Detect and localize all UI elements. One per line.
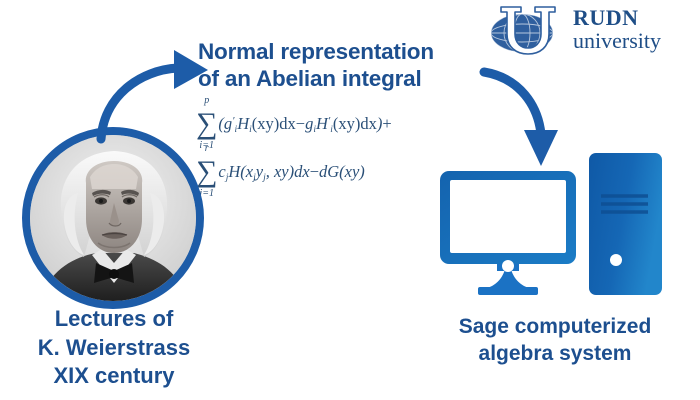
arg-open: (x bbox=[240, 162, 253, 181]
sigma-glyph-1: ∑ bbox=[196, 107, 217, 140]
arg-rest: , xy)dx bbox=[266, 162, 310, 181]
formula-line-1: p ∑ i=1 (g′iHi(xy)dx−giH′i(xy)dx)+ bbox=[196, 100, 446, 148]
weierstrass-portrait-circle bbox=[22, 127, 204, 309]
summation-symbol-2: r ∑ j=1 bbox=[196, 157, 217, 187]
rudn-logo: RUDN university bbox=[483, 3, 695, 57]
abelian-integral-formula: p ∑ i=1 (g′iHi(xy)dx−giH′i(xy)dx)+ r ∑ j… bbox=[196, 100, 446, 196]
slide-title-line-2: of an Abelian integral bbox=[198, 65, 498, 92]
c-symbol: c bbox=[218, 162, 225, 181]
caption-sage: Sage computerized algebra system bbox=[420, 313, 690, 368]
arg-1: (xy)dx bbox=[252, 114, 296, 133]
caption-left-line-2: K. Weierstrass bbox=[0, 334, 228, 363]
formula-line-2-body: cjH(xjyj, xy)dx−dG(xy) bbox=[218, 162, 364, 183]
summation-symbol-1: p ∑ i=1 bbox=[196, 109, 217, 139]
formula-line-2: r ∑ j=1 cjH(xjyj, xy)dx−dG(xy) bbox=[196, 148, 446, 196]
H-symbol-2: H bbox=[316, 114, 328, 133]
rudn-subtitle: university bbox=[573, 30, 661, 52]
slide-title: Normal representation of an Abelian inte… bbox=[198, 38, 498, 93]
sum-upper-limit-1: p bbox=[204, 96, 209, 106]
dG-term: dG(xy) bbox=[319, 162, 365, 181]
caption-left-line-3: XIX century bbox=[0, 362, 228, 391]
sigma-glyph-2: ∑ bbox=[196, 155, 217, 188]
weierstrass-portrait-photo bbox=[26, 131, 200, 305]
slide-canvas: RUDN university Normal representation of… bbox=[0, 0, 700, 400]
curved-arrow-portrait-to-title-icon bbox=[101, 50, 208, 139]
sum-upper-limit-2: r bbox=[205, 144, 209, 154]
plus-1: + bbox=[382, 114, 391, 133]
caption-left-line-1: Lectures of bbox=[0, 305, 228, 334]
portrait-illustration-icon bbox=[26, 131, 200, 305]
rudn-name: RUDN bbox=[573, 7, 661, 29]
H-symbol-1: H bbox=[237, 114, 249, 133]
minus-2: − bbox=[310, 162, 319, 181]
caption-right-line-2: algebra system bbox=[420, 340, 690, 367]
rudn-wordmark: RUDN university bbox=[573, 7, 661, 52]
desktop-monitor-icon bbox=[440, 171, 576, 295]
minus-1: − bbox=[296, 114, 305, 133]
y-symbol: y bbox=[256, 162, 263, 181]
g-symbol-1: g bbox=[224, 114, 232, 133]
arg-2: (xy)dx bbox=[333, 114, 377, 133]
caption-right-line-1: Sage computerized bbox=[420, 313, 690, 340]
g-prime-term: g′i bbox=[224, 114, 237, 133]
formula-line-1-body: (g′iHi(xy)dx−giH′i(xy)dx)+ bbox=[218, 114, 391, 135]
caption-weierstrass: Lectures of K. Weierstrass XIX century bbox=[0, 305, 228, 391]
H-symbol-3: H bbox=[228, 162, 240, 181]
desktop-tower-icon bbox=[589, 153, 662, 295]
slide-title-line-1: Normal representation bbox=[198, 38, 498, 65]
